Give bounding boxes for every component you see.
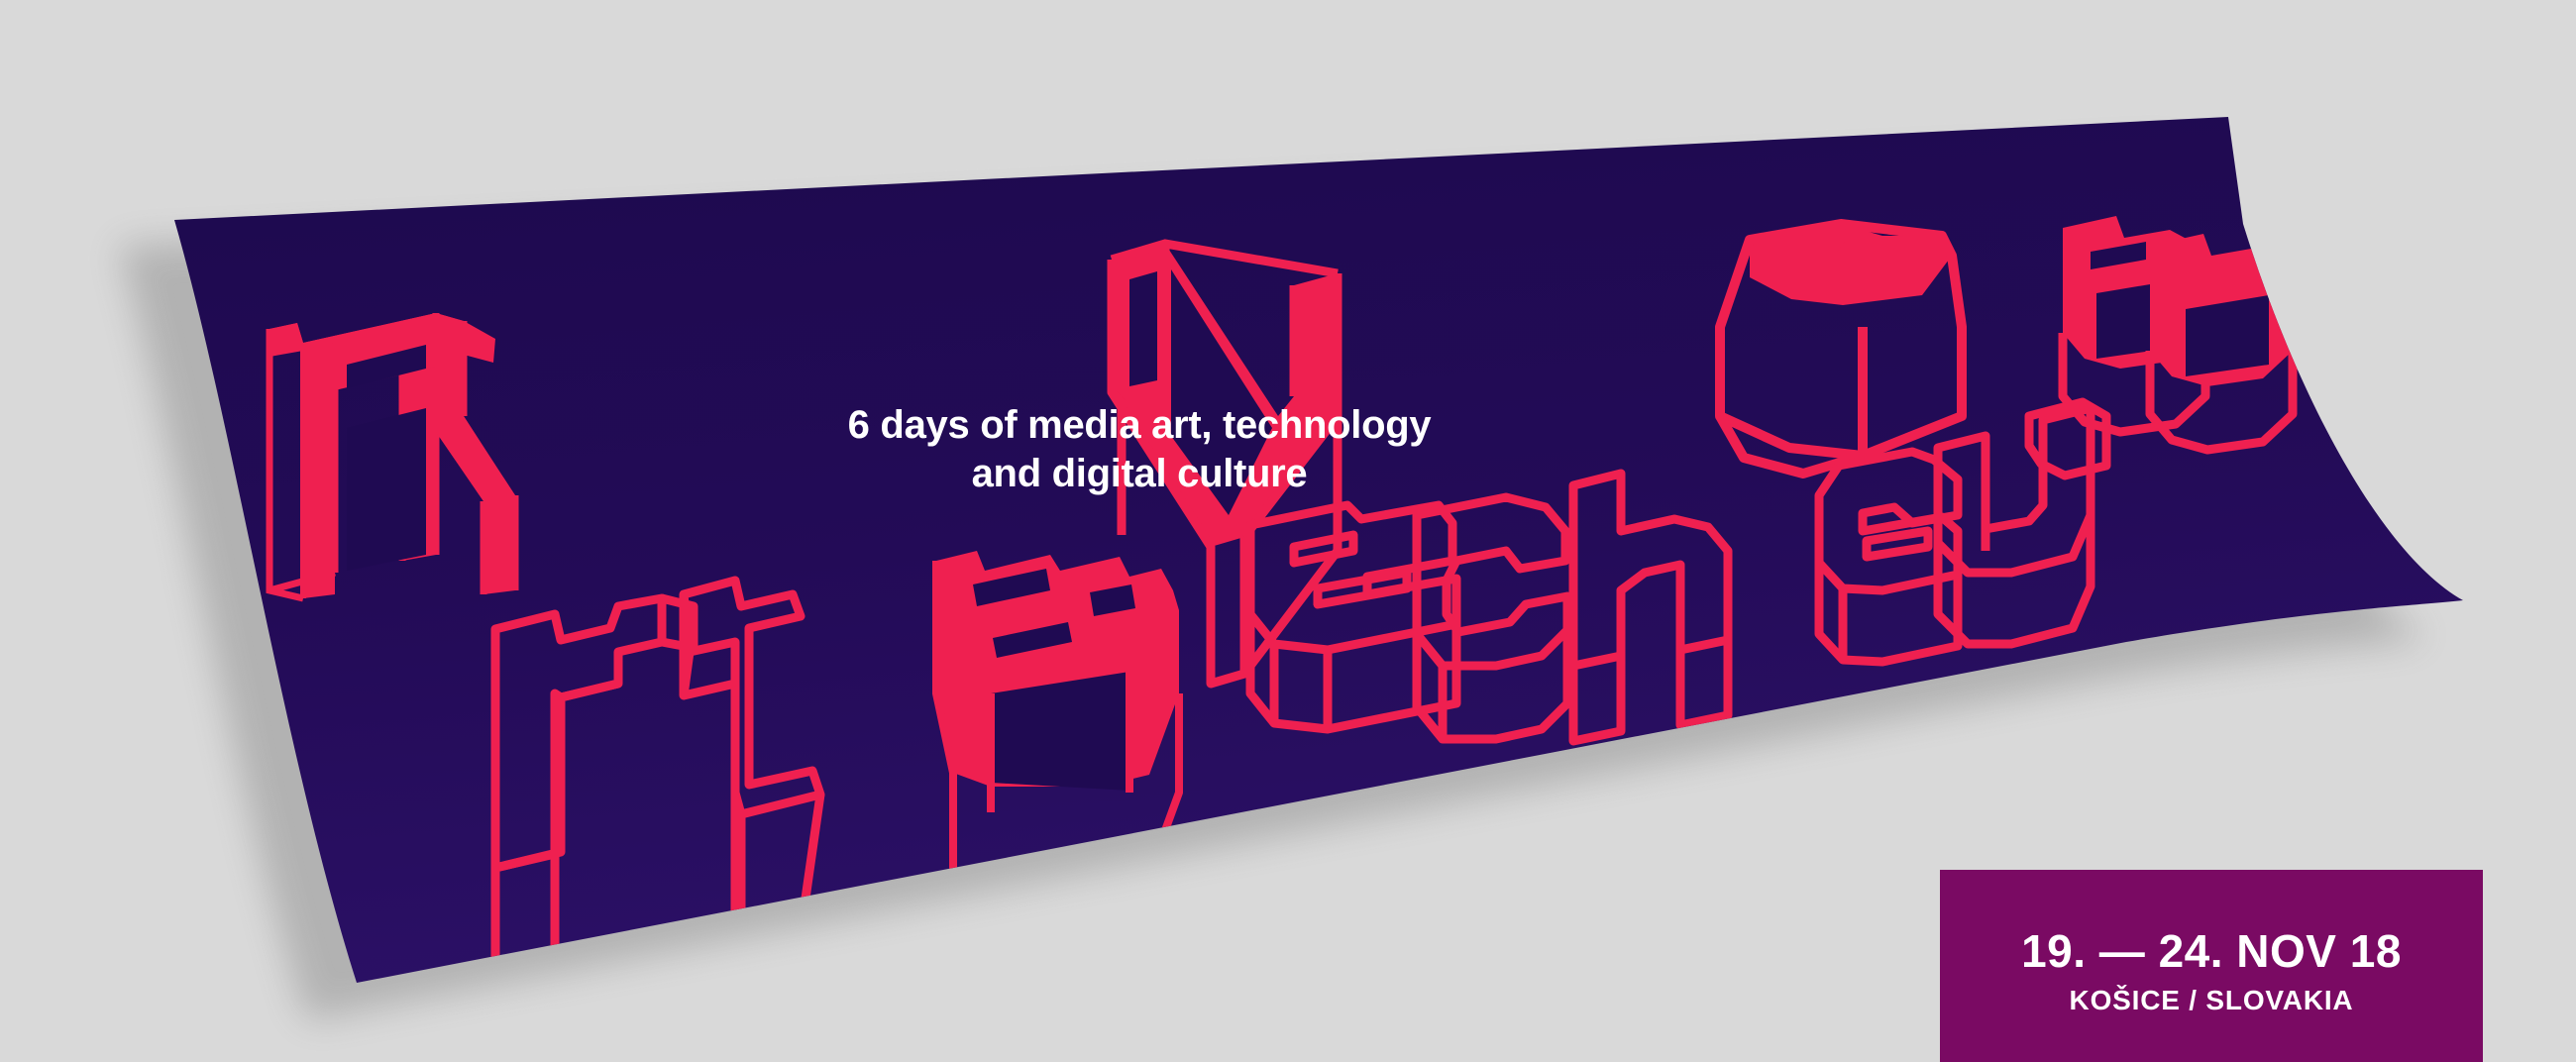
date-badge: 19. — 24. NOV 18 KOŠICE / SLOVAKIA bbox=[1940, 870, 2483, 1062]
date-range: 19. — 24. NOV 18 bbox=[2021, 927, 2402, 975]
banner-stage: 6 days of media art, technology and digi… bbox=[0, 0, 2576, 1062]
location-label: KOŠICE / SLOVAKIA bbox=[2070, 985, 2354, 1016]
